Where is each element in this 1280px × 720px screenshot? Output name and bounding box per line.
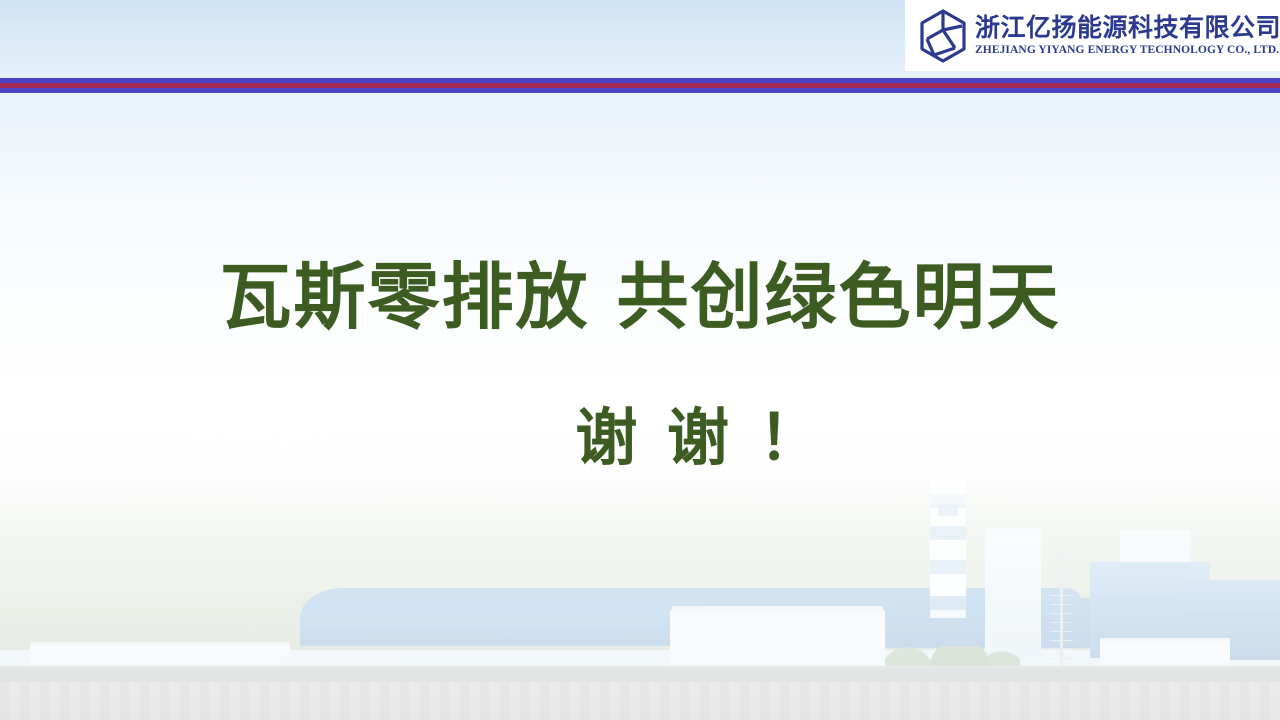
industrial-plant-photo (0, 470, 1280, 720)
hexagon-facet-logo-icon (917, 8, 969, 64)
presentation-slide: 市场推广 瓦斯零排放 共创绿色明天 谢 谢 ！ 浙江亿扬能源科技有限公司 ZHE… (0, 0, 1280, 720)
company-logo-panel: 浙江亿扬能源科技有限公司 ZHEJIANG YIYANG ENERGY TECH… (905, 0, 1280, 71)
header-divider-rule (0, 78, 1280, 93)
company-name-block: 浙江亿扬能源科技有限公司 ZHEJIANG YIYANG ENERGY TECH… (975, 15, 1280, 56)
company-name-en: ZHEJIANG YIYANG ENERGY TECHNOLOGY CO., L… (975, 44, 1280, 56)
photo-whitewash-overlay (0, 470, 1280, 720)
page-title: 瓦斯零排放 共创绿色明天 (0, 258, 1280, 337)
company-name-cn: 浙江亿扬能源科技有限公司 (975, 15, 1280, 41)
rule-blue-bottom (0, 88, 1280, 93)
thanks-text: 谢 谢 ！ (0, 404, 1280, 472)
